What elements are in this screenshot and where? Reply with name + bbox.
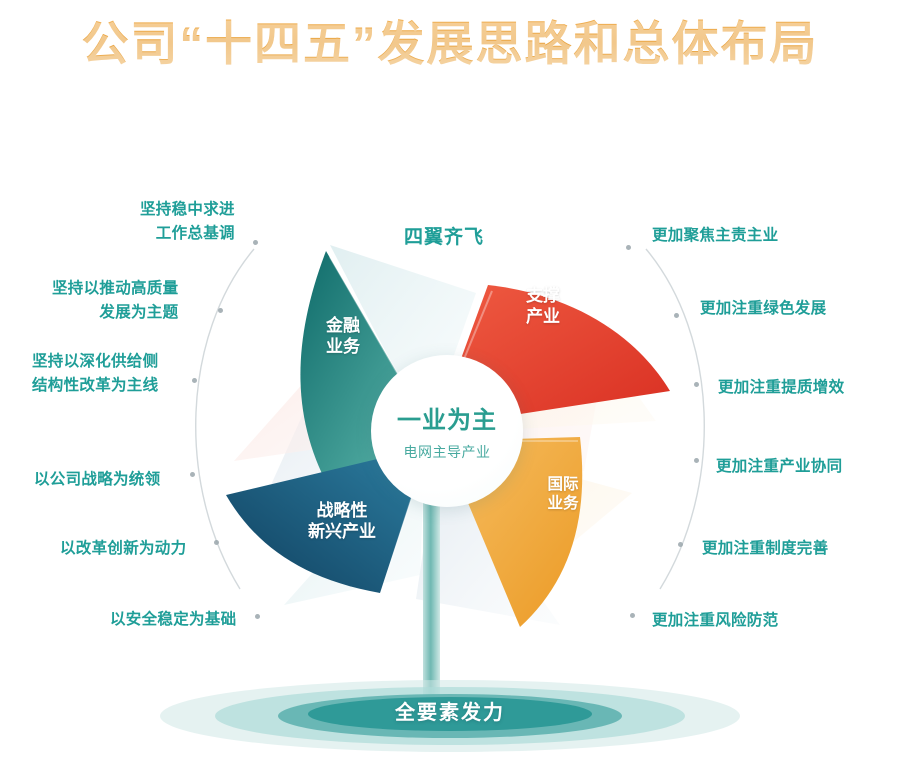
right-label-4-line1: 更加注重产业协同 xyxy=(716,458,842,475)
left-label-3-line1: 坚持以深化供给侧 xyxy=(32,353,158,370)
base-label: 全要素发力 xyxy=(150,696,750,725)
page-title-bar: 公司“十四五”发展思路和总体布局 xyxy=(0,0,900,78)
center-main-text: 一业为主 xyxy=(397,400,497,435)
base-platform: 全要素发力 xyxy=(150,672,750,756)
left-label-3: 坚持以深化供给侧 结构性改革为主线 xyxy=(32,350,158,398)
left-label-4: 以公司战略为统领 xyxy=(34,468,160,492)
left-label-4-line1: 以公司战略为统领 xyxy=(34,471,160,488)
left-label-5: 以改革创新为动力 xyxy=(60,537,186,561)
wheel-top-label: 四翼齐飞 xyxy=(404,222,484,249)
left-label-2: 坚持以推动高质量 发展为主题 xyxy=(52,277,178,325)
center-sub-text: 电网主导产业 xyxy=(404,442,491,462)
left-label-2-line1: 坚持以推动高质量 xyxy=(52,280,178,297)
center-circle: 一业为主 电网主导产业 xyxy=(371,355,523,507)
page-title: 公司“十四五”发展思路和总体布局 xyxy=(82,5,819,74)
right-label-4: 更加注重产业协同 xyxy=(716,455,842,479)
infographic-canvas: 公司“十四五”发展思路和总体布局 坚持稳中求进 工作总基调 坚持以推动高质量 发… xyxy=(0,0,900,756)
right-label-5-line1: 更加注重制度完善 xyxy=(702,540,828,557)
left-label-2-line2: 发展为主题 xyxy=(52,301,178,325)
left-label-3-line2: 结构性改革为主线 xyxy=(32,374,158,398)
right-label-5: 更加注重制度完善 xyxy=(702,537,828,561)
right-label-3-line1: 更加注重提质增效 xyxy=(718,379,844,396)
left-label-5-line1: 以改革创新为动力 xyxy=(60,540,186,557)
right-label-3: 更加注重提质增效 xyxy=(718,376,844,400)
